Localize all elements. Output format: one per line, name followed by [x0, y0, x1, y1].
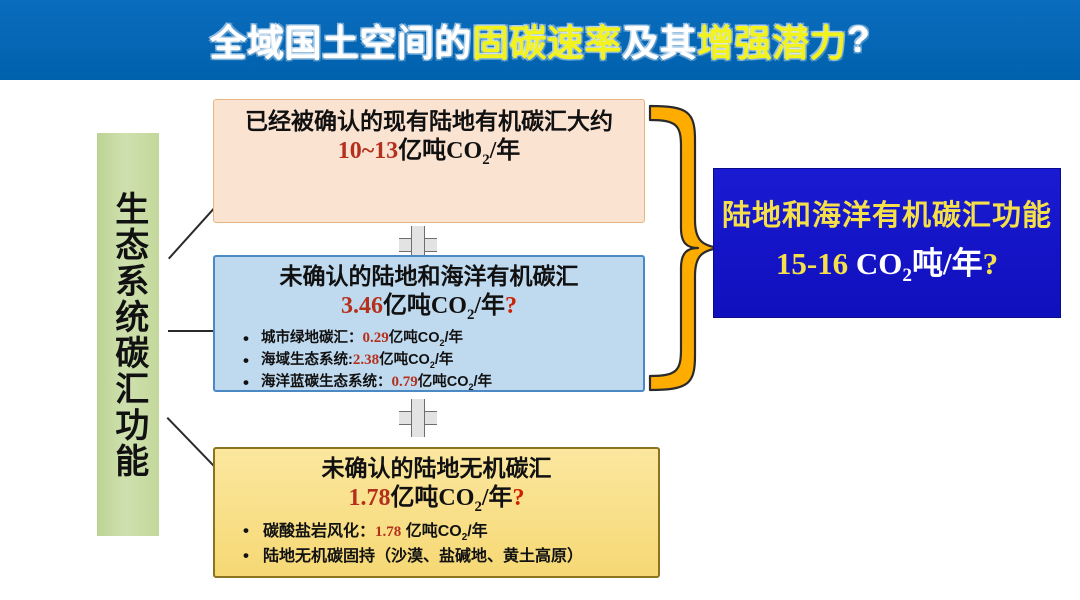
box-1-heading: 已经被确认的现有陆地有机碳汇大约	[224, 108, 634, 135]
box-3-bullet-1-unit-tail: /年	[467, 523, 487, 540]
title-segment-4: 增强潜力	[697, 13, 847, 67]
result-amount: 15-16 CO2吨/年?	[776, 245, 998, 287]
box-2-bullet-1-value: 0.29	[363, 330, 389, 346]
title-segment-3: 及其	[622, 13, 697, 67]
box-2-bullet-3-label: 海洋蓝碳生态系统：	[261, 374, 392, 390]
box-3-bullet-1-value: 1.78	[375, 524, 401, 540]
box-3-bullet-list: 碳酸盐岩风化：1.78 亿吨CO2/年 陆地无机碳固持（沙漠、盐碱地、黄土高原）	[225, 520, 648, 569]
slide-canvas: 全域国土空间的固碳速率及其增强潜力? 生态系统碳汇功能 已经被确认的现有陆地有机…	[0, 0, 1080, 600]
result-unit: CO	[848, 246, 902, 281]
box-2-bullet-2-unit-tail: /年	[435, 352, 454, 368]
box-3-heading: 未确认的陆地无机碳汇	[225, 455, 648, 482]
page-title: 全域国土空间的固碳速率及其增强潜力?	[0, 0, 1080, 80]
list-item: 海洋蓝碳生态系统：0.79亿吨CO2/年	[243, 372, 633, 394]
list-item: 海域生态系统:2.38亿吨CO2/年	[243, 350, 633, 372]
box-confirmed-terrestrial-organic-carbon-sink: 已经被确认的现有陆地有机碳汇大约 10~13亿吨CO2/年	[213, 99, 645, 223]
result-box-land-and-ocean-organic-carbon-sink-function: 陆地和海洋有机碳汇功能 15-16 CO2吨/年?	[713, 168, 1061, 318]
box-unconfirmed-terrestrial-inorganic-carbon-sink: 未确认的陆地无机碳汇 1.78亿吨CO2/年? 碳酸盐岩风化：1.78 亿吨CO…	[213, 447, 660, 578]
box-2-bullet-3-unit: 亿吨CO	[418, 374, 469, 390]
box-2-bullet-1-unit: 亿吨CO	[389, 330, 440, 346]
box-2-bullet-2-value: 2.38	[353, 352, 379, 368]
box-3-bullet-1-unit: 亿吨CO	[401, 523, 461, 540]
box-2-bullet-list: 城市绿地碳汇：0.29亿吨CO2/年 海域生态系统:2.38亿吨CO2/年 海洋…	[225, 328, 633, 394]
title-segment-1: 全域国土空间的	[210, 13, 473, 67]
result-value: 15-16	[776, 246, 848, 281]
box-3-bullet-2-label: 陆地无机碳固持（沙漠、盐碱地、黄土高原）	[263, 548, 583, 565]
box-2-bullet-3-unit-tail: /年	[474, 374, 493, 390]
list-item: 陆地无机碳固持（沙漠、盐碱地、黄土高原）	[243, 545, 648, 568]
left-vertical-label: 生态系统碳汇功能	[97, 133, 159, 536]
box-2-unit-tail: /年	[474, 293, 505, 319]
box-1-value: 10~13	[338, 138, 398, 164]
box-2-bullet-1-unit-tail: /年	[445, 330, 464, 346]
box-3-unit-sub: 2	[474, 499, 481, 515]
box-3-value: 1.78	[348, 485, 390, 511]
box-1-unit-tail: /年	[490, 138, 521, 164]
box-2-amount: 3.46亿吨CO2/年?	[225, 292, 633, 325]
box-1-unit-sub: 2	[482, 152, 489, 168]
left-vertical-label-text: 生态系统碳汇功能	[107, 191, 148, 479]
box-2-bullet-2-label: 海域生态系统:	[261, 352, 353, 368]
box-unconfirmed-land-and-ocean-organic-carbon-sink: 未确认的陆地和海洋有机碳汇 3.46亿吨CO2/年? 城市绿地碳汇：0.29亿吨…	[213, 255, 645, 392]
box-1-amount: 10~13亿吨CO2/年	[224, 137, 634, 170]
title-segment-2: 固碳速率	[472, 13, 622, 67]
box-2-bullet-2-unit: 亿吨CO	[379, 352, 430, 368]
result-question: ?	[983, 246, 999, 281]
plus-icon	[399, 399, 437, 437]
box-3-unit: 亿吨CO	[390, 485, 474, 511]
box-2-question: ?	[505, 293, 517, 319]
title-segment-5: ?	[847, 19, 870, 61]
box-2-bullet-1-label: 城市绿地碳汇：	[261, 330, 363, 346]
result-heading: 陆地和海洋有机碳汇功能	[722, 199, 1052, 234]
box-3-unit-tail: /年	[482, 485, 513, 511]
result-unit-tail: 吨/年	[912, 246, 983, 281]
box-3-question: ?	[513, 485, 525, 511]
box-2-bullet-3-value: 0.79	[392, 374, 418, 390]
box-1-unit: 亿吨CO	[398, 138, 482, 164]
box-2-unit: 亿吨CO	[383, 293, 467, 319]
result-unit-sub: 2	[902, 265, 912, 286]
list-item: 城市绿地碳汇：0.29亿吨CO2/年	[243, 328, 633, 350]
box-3-amount: 1.78亿吨CO2/年?	[225, 484, 648, 517]
box-2-value: 3.46	[341, 293, 383, 319]
box-2-heading: 未确认的陆地和海洋有机碳汇	[225, 263, 633, 290]
list-item: 碳酸盐岩风化：1.78 亿吨CO2/年	[243, 520, 648, 546]
box-3-bullet-1-label: 碳酸盐岩风化：	[263, 523, 375, 540]
